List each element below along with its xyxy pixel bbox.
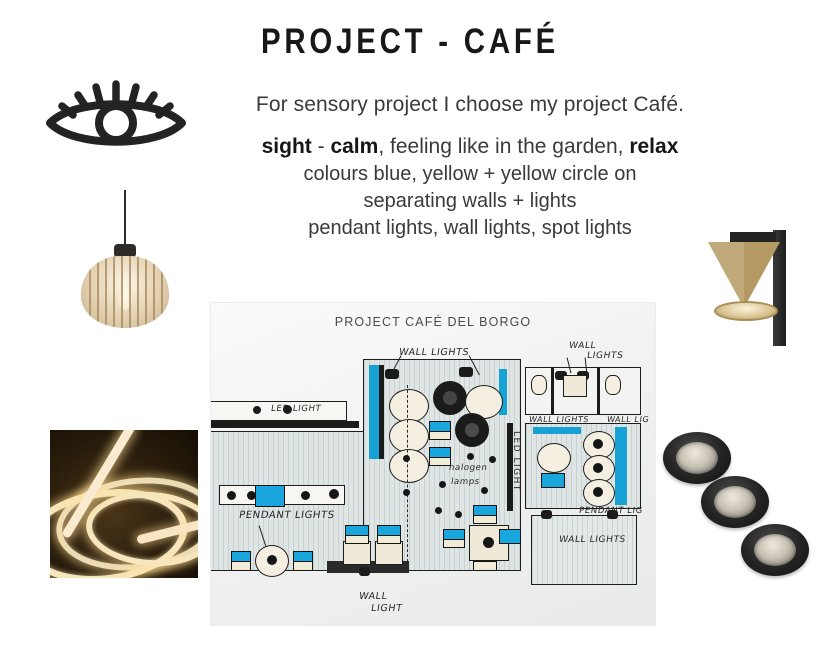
- plan-wall-light-fixture-7: [359, 567, 370, 576]
- floor-plan-title: PROJECT CAFÉ DEL BORGO: [211, 315, 655, 329]
- plan-fixture-led-dot-2: [283, 405, 292, 414]
- plan-chair-cb-2b: [377, 535, 401, 544]
- plan-axis-dot-2: [403, 489, 410, 496]
- copy-line-5: pendant lights, wall lights, spot lights: [180, 215, 760, 242]
- plan-label-pendant-lights-left: PENDANT LIGHTS: [238, 510, 335, 521]
- plan-pendant-large-1-core: [443, 391, 457, 405]
- plan-wc-partition-1: [551, 367, 554, 415]
- plan-table-lw-center: [267, 555, 277, 565]
- plan-label-wall-light-bottom-1: WALL: [358, 591, 388, 602]
- plan-table-rm-3-center: [593, 487, 603, 497]
- poster-canvas: PROJECT - CAFÉ For sensory project I cho…: [0, 0, 820, 656]
- plan-fixture-led-dot-1: [253, 406, 261, 414]
- spot-light-1: [663, 432, 731, 484]
- plan-chair-c-2b: [429, 457, 451, 466]
- plan-label-led-light-left: LED LIGHT: [270, 404, 322, 414]
- plan-pendant-dot-4: [329, 489, 339, 499]
- pendant-lamp-photo: [62, 182, 188, 328]
- plan-table-cb-2: [375, 541, 403, 565]
- plan-halogen-dot-6: [455, 511, 462, 518]
- plan-accent-wall-right-mid-top: [533, 427, 581, 434]
- plan-wc-fixture-1: [531, 375, 547, 395]
- plan-label-wall-lights-tr-2: LIGHTS: [586, 351, 624, 361]
- plan-table-rm-left: [537, 443, 571, 473]
- plan-label-wall-lights-mid-right-2: WALL LIG: [606, 415, 650, 424]
- plan-halogen-dot-5: [435, 507, 442, 514]
- body-copy: For sensory project I choose my project …: [180, 92, 760, 242]
- plan-wc-fixture-2: [605, 375, 621, 395]
- plan-halogen-dot-1: [467, 453, 474, 460]
- sconce-shade-mouth: [714, 301, 778, 321]
- plan-axis-dashed: [407, 385, 408, 567]
- pendant-cord: [124, 190, 126, 246]
- plan-pendant-dot-1: [227, 491, 236, 500]
- page-title: PROJECT - CAFÉ: [66, 22, 755, 62]
- plan-accent-wall-right-mid: [615, 427, 627, 505]
- copy-mid-2: , feeling like in the garden,: [378, 135, 629, 158]
- copy-sep-1: -: [312, 135, 331, 158]
- plan-halogen-dot-2: [489, 456, 496, 463]
- plan-pendant-dot-3: [301, 491, 310, 500]
- copy-line-4: separating walls + lights: [180, 188, 760, 215]
- plan-label-wall-lights-top-left: WALL LIGHTS: [398, 347, 470, 358]
- plan-chair-csq-topb: [473, 515, 497, 524]
- copy-line-2: sight - calm, feeling like in the garden…: [180, 133, 760, 160]
- plan-halogen-dot-3: [439, 481, 446, 488]
- wall-sconce-photo: [700, 222, 804, 348]
- plan-wall-light-fixture-5: [541, 510, 552, 519]
- eye-icon: [40, 74, 192, 146]
- spot-lights-photo: [655, 428, 817, 580]
- plan-table-central-1: [389, 389, 429, 423]
- plan-chair-c-1b: [429, 431, 451, 440]
- plan-label-wall-light-bottom-2: LIGHT: [370, 603, 403, 614]
- pendant-shade: [81, 256, 169, 328]
- plan-table-cb-1: [343, 541, 371, 565]
- plan-chair-cb-1b: [345, 535, 369, 544]
- plan-wall-light-fixture-2: [459, 367, 473, 377]
- led-strip-photo: [50, 430, 198, 578]
- plan-chair-rm-left: [541, 473, 565, 488]
- plan-table-central-2: [389, 419, 429, 453]
- keyword-sight: sight: [262, 135, 312, 158]
- plan-table-rm-2-center: [593, 463, 603, 473]
- copy-line-3: colours blue, yellow + yellow circle on: [180, 161, 760, 188]
- plan-chair-lw-2b: [293, 561, 313, 571]
- plan-label-pendant-lights-right: PENDANT LIG: [578, 506, 643, 516]
- keyword-relax: relax: [629, 135, 678, 158]
- spot-light-3: [741, 524, 809, 576]
- plan-chair-csq-right: [499, 529, 521, 544]
- plan-label-wall-lights-mid-right-1: WALL LIGHTS: [528, 415, 589, 424]
- plan-table-central-3: [389, 449, 429, 483]
- floor-plan-photo: PROJECT CAFÉ DEL BORGO LED LIGHT: [211, 303, 655, 625]
- plan-wc-partition-2: [597, 367, 600, 415]
- plan-chair-csq-leftb: [443, 539, 465, 548]
- plan-table-rm-1-center: [593, 439, 603, 449]
- plan-label-led-light-vertical: LED LIGHT: [511, 431, 521, 492]
- spot-light-2: [701, 476, 769, 528]
- plan-axis-dot-1: [403, 455, 410, 462]
- plan-halogen-dot-4: [481, 487, 488, 494]
- plan-label-wall-lights-bottom-right: WALL LIGHTS: [558, 535, 626, 545]
- plan-label-halogen-1: halogen: [448, 463, 488, 473]
- plan-counter-blue-unit: [255, 485, 285, 507]
- copy-lead: For sensory project I choose my project …: [180, 92, 760, 118]
- plan-bar-counter-top-edge: [211, 421, 359, 428]
- plan-chair-csq-bottom: [473, 561, 497, 571]
- keyword-calm: calm: [330, 135, 378, 158]
- plan-room-right-lower: [531, 515, 637, 585]
- plan-wc-sink: [563, 375, 587, 397]
- plan-wall-dark-central-left: [379, 365, 384, 459]
- plan-pendant-dot-2: [247, 491, 256, 500]
- sconce-shade-highlight: [708, 242, 744, 308]
- plan-table-central-square-center: [483, 537, 494, 548]
- plan-chair-lw-1b: [231, 561, 251, 571]
- plan-accent-wall-central-left: [369, 365, 379, 459]
- plan-label-halogen-2: lamps: [450, 477, 480, 487]
- plan-pendant-large-2-core: [465, 423, 479, 437]
- plan-label-wall-lights-tr-1: WALL: [568, 341, 597, 351]
